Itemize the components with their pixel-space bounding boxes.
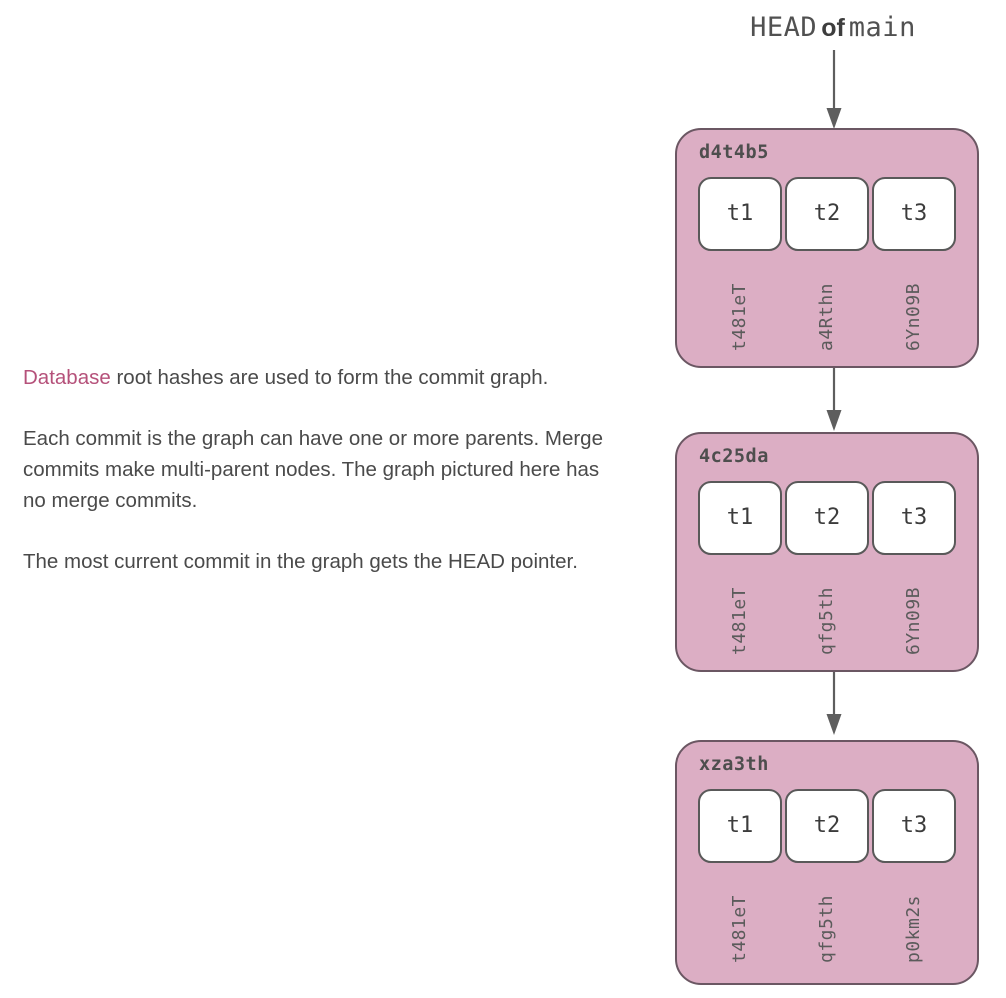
explanatory-text: Database root hashes are used to form th… bbox=[23, 362, 608, 577]
of-word: of bbox=[817, 14, 849, 42]
tile-hash-label: p0km2s bbox=[905, 877, 923, 963]
tile-t1[interactable]: t1 bbox=[698, 177, 782, 251]
database-keyword: Database bbox=[23, 366, 111, 389]
arrow-commit-1-to-commit-2 bbox=[817, 368, 851, 432]
tile-t3[interactable]: t3 bbox=[872, 177, 956, 251]
tile-label: t3 bbox=[901, 201, 928, 226]
tile-label: t1 bbox=[727, 201, 754, 226]
arrow-head-to-commit-1 bbox=[817, 50, 851, 130]
tile-hash-label: t481eT bbox=[731, 569, 749, 655]
tile-t1[interactable]: t1 bbox=[698, 481, 782, 555]
tile-label: t2 bbox=[814, 505, 841, 530]
tile-hash-label: 6Yn09B bbox=[905, 569, 923, 655]
paragraph-1-rest: root hashes are used to form the commit … bbox=[111, 366, 549, 389]
commit-node-xza3th[interactable]: xza3th t1 t481eT t2 qfg5th t3 p0km2s bbox=[675, 740, 979, 985]
tile-t1[interactable]: t1 bbox=[698, 789, 782, 863]
tile-column: t2 a4Rthn bbox=[785, 177, 869, 351]
tile-column: t1 t481eT bbox=[698, 177, 782, 351]
head-of-main-label: HEADofmain bbox=[660, 12, 1006, 43]
tile-t3[interactable]: t3 bbox=[872, 481, 956, 555]
tile-column: t1 t481eT bbox=[698, 481, 782, 655]
arrow-commit-2-to-commit-3 bbox=[817, 672, 851, 736]
arrow-commit-2-to-commit-3-icon bbox=[817, 672, 851, 736]
tile-hash-label: t481eT bbox=[731, 877, 749, 963]
tile-row: t1 t481eT t2 qfg5th t3 6Yn09B bbox=[677, 467, 977, 655]
commit-hash-label: d4t4b5 bbox=[677, 130, 977, 163]
tile-t3[interactable]: t3 bbox=[872, 789, 956, 863]
tile-column: t3 6Yn09B bbox=[872, 177, 956, 351]
tile-row: t1 t481eT t2 a4Rthn t3 6Yn09B bbox=[677, 163, 977, 351]
tile-hash-label: qfg5th bbox=[818, 569, 836, 655]
paragraph-head-pointer: The most current commit in the graph get… bbox=[23, 546, 608, 577]
commit-hash-label: xza3th bbox=[677, 742, 977, 775]
commit-node-d4t4b5[interactable]: d4t4b5 t1 t481eT t2 a4Rthn t3 6Yn09B bbox=[675, 128, 979, 368]
tile-t2[interactable]: t2 bbox=[785, 789, 869, 863]
tile-column: t2 qfg5th bbox=[785, 789, 869, 963]
paragraph-database-root-hashes: Database root hashes are used to form th… bbox=[23, 362, 608, 393]
tile-hash-label: qfg5th bbox=[818, 877, 836, 963]
tile-label: t1 bbox=[727, 813, 754, 838]
tile-row: t1 t481eT t2 qfg5th t3 p0km2s bbox=[677, 775, 977, 963]
commit-hash-label: 4c25da bbox=[677, 434, 977, 467]
tile-label: t2 bbox=[814, 813, 841, 838]
tile-t2[interactable]: t2 bbox=[785, 177, 869, 251]
tile-column: t3 p0km2s bbox=[872, 789, 956, 963]
tile-t2[interactable]: t2 bbox=[785, 481, 869, 555]
paragraph-commit-parents: Each commit is the graph can have one or… bbox=[23, 423, 608, 516]
tile-hash-label: t481eT bbox=[731, 265, 749, 351]
tile-label: t3 bbox=[901, 505, 928, 530]
tile-column: t1 t481eT bbox=[698, 789, 782, 963]
arrow-commit-1-to-commit-2-icon bbox=[817, 368, 851, 432]
branch-name: main bbox=[849, 12, 916, 43]
tile-hash-label: 6Yn09B bbox=[905, 265, 923, 351]
tile-label: t1 bbox=[727, 505, 754, 530]
tile-column: t3 6Yn09B bbox=[872, 481, 956, 655]
arrow-head-to-commit-1-icon bbox=[817, 50, 851, 130]
tile-label: t2 bbox=[814, 201, 841, 226]
commit-node-4c25da[interactable]: 4c25da t1 t481eT t2 qfg5th t3 6Yn09B bbox=[675, 432, 979, 672]
head-keyword: HEAD bbox=[750, 12, 817, 43]
tile-hash-label: a4Rthn bbox=[818, 265, 836, 351]
tile-label: t3 bbox=[901, 813, 928, 838]
tile-column: t2 qfg5th bbox=[785, 481, 869, 655]
